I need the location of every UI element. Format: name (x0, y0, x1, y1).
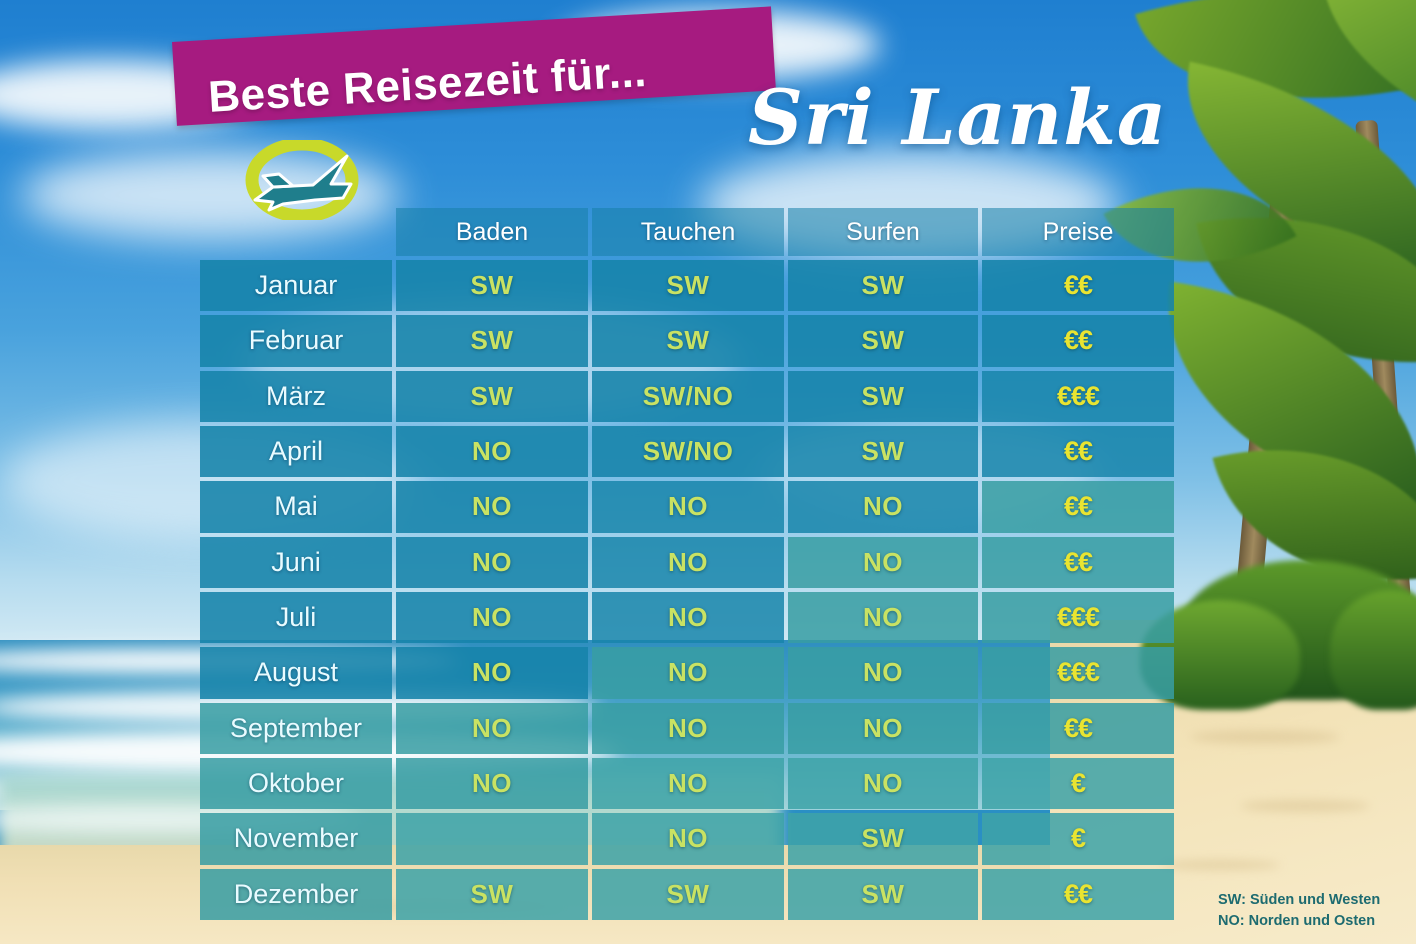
cell-tauchen: SW (592, 260, 784, 311)
sand-streak (1240, 800, 1370, 812)
cell-surfen: NO (788, 647, 978, 698)
cell-baden: SW (396, 869, 588, 920)
cell-tauchen: SW/NO (592, 426, 784, 477)
cell-preise: €€€ (982, 647, 1174, 698)
cell-tauchen: NO (592, 592, 784, 643)
row-label-month: September (200, 703, 392, 754)
cell-preise: €€ (982, 315, 1174, 366)
row-label-month: Januar (200, 260, 392, 311)
cell-baden (396, 813, 588, 864)
cell-surfen: NO (788, 592, 978, 643)
cell-surfen: SW (788, 869, 978, 920)
destination-title: Sri Lanka (748, 78, 1167, 158)
cell-tauchen: NO (592, 813, 784, 864)
cell-surfen: SW (788, 315, 978, 366)
row-label-month: Dezember (200, 869, 392, 920)
row-label-month: November (200, 813, 392, 864)
cell-preise: €€ (982, 426, 1174, 477)
cell-preise: € (982, 758, 1174, 809)
cell-tauchen: SW (592, 315, 784, 366)
cell-preise: €€€ (982, 371, 1174, 422)
column-header-preise: Preise (982, 208, 1174, 256)
cell-surfen: SW (788, 426, 978, 477)
cell-tauchen: SW (592, 869, 784, 920)
cell-tauchen: NO (592, 537, 784, 588)
cell-preise: €€ (982, 537, 1174, 588)
row-label-month: Oktober (200, 758, 392, 809)
row-label-month: Februar (200, 315, 392, 366)
cell-surfen: NO (788, 703, 978, 754)
cell-surfen: NO (788, 481, 978, 532)
cell-surfen: NO (788, 537, 978, 588)
row-label-month: August (200, 647, 392, 698)
row-label-month: Juni (200, 537, 392, 588)
cell-preise: €€ (982, 703, 1174, 754)
cell-surfen: NO (788, 758, 978, 809)
infographic-canvas: Beste Reisezeit für... Sri Lanka Baden T… (0, 0, 1416, 944)
cell-baden: NO (396, 537, 588, 588)
row-label-month: März (200, 371, 392, 422)
legend-line-sw: SW: Süden und Westen (1218, 890, 1408, 911)
cell-tauchen: SW/NO (592, 371, 784, 422)
row-label-month: April (200, 426, 392, 477)
column-header-tauchen: Tauchen (592, 208, 784, 256)
cell-surfen: SW (788, 813, 978, 864)
cell-baden: NO (396, 426, 588, 477)
legend: SW: Süden und Westen NO: Norden und Oste… (1218, 890, 1408, 932)
cell-baden: SW (396, 315, 588, 366)
sand-streak (1160, 860, 1280, 870)
cell-preise: €€ (982, 260, 1174, 311)
table-corner-cell (200, 208, 392, 256)
cell-tauchen: NO (592, 481, 784, 532)
cell-preise: € (982, 813, 1174, 864)
column-header-baden: Baden (396, 208, 588, 256)
cell-surfen: SW (788, 260, 978, 311)
cell-baden: NO (396, 703, 588, 754)
sand-streak (1190, 730, 1340, 744)
row-label-month: Mai (200, 481, 392, 532)
cell-baden: NO (396, 481, 588, 532)
travel-season-table: Baden Tauchen Surfen Preise Januar SW SW… (200, 208, 1158, 920)
cell-tauchen: NO (592, 647, 784, 698)
legend-line-no: NO: Norden und Osten (1218, 911, 1408, 932)
cell-preise: €€ (982, 869, 1174, 920)
cell-baden: SW (396, 371, 588, 422)
cell-baden: NO (396, 592, 588, 643)
column-header-surfen: Surfen (788, 208, 978, 256)
cell-tauchen: NO (592, 758, 784, 809)
cell-baden: SW (396, 260, 588, 311)
cell-preise: €€ (982, 481, 1174, 532)
cell-surfen: SW (788, 371, 978, 422)
cell-preise: €€€ (982, 592, 1174, 643)
cell-tauchen: NO (592, 703, 784, 754)
cell-baden: NO (396, 647, 588, 698)
cell-baden: NO (396, 758, 588, 809)
row-label-month: Juli (200, 592, 392, 643)
